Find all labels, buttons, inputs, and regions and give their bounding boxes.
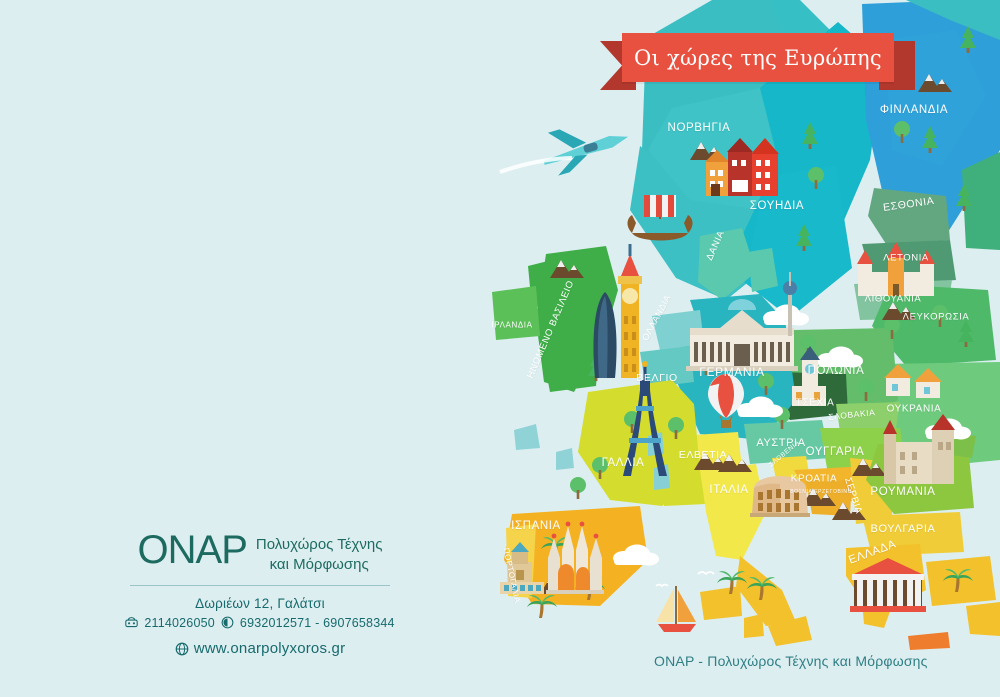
website-url[interactable]: www.onarpolyxoros.gr bbox=[194, 640, 346, 657]
logo-divider bbox=[130, 585, 390, 586]
title-banner: Οι χώρες της Ευρώπης bbox=[600, 41, 915, 90]
onar-tagline: Πολυχώρος Τέχνης και Μόρφωσης bbox=[256, 530, 383, 576]
tagline-line-1: Πολυχώρος Τέχνης bbox=[256, 535, 383, 555]
onar-wordmark: ΟΝΑΡ bbox=[138, 530, 247, 570]
globe-icon bbox=[175, 642, 188, 655]
address-text: Δωριέων 12, Γαλάτσι bbox=[120, 596, 400, 611]
phones-row: 2114026050 6932012571 - 6907658344 bbox=[120, 616, 400, 630]
banner-title: Οι χώρες της Ευρώπης bbox=[622, 33, 894, 82]
mobile-phone-icon bbox=[221, 616, 234, 629]
onar-logo-block: ΟΝΑΡ Πολυχώρος Τέχνης και Μόρφωσης Δωριέ… bbox=[120, 530, 400, 657]
mobile-numbers: 6932012571 - 6907658344 bbox=[240, 616, 395, 630]
website-row[interactable]: www.onarpolyxoros.gr bbox=[120, 640, 400, 657]
contact-info: Δωριέων 12, Γαλάτσι 2114026050 693201257… bbox=[120, 596, 400, 657]
poster-page: ΝΟΡΒΗΓΙΑΣΟΥΗΔΙΑΦΙΝΛΑΝΔΙΑΕΣΘΟΝΙΑΛΕΤΟΝΙΑΛΙ… bbox=[0, 0, 1000, 697]
logo-row: ΟΝΑΡ Πολυχώρος Τέχνης και Μόρφωσης bbox=[120, 530, 400, 576]
tagline-line-2: και Μόρφωσης bbox=[256, 555, 383, 575]
footer-credit: ΟΝΑΡ - Πολυχώρος Τέχνης και Μόρφωσης bbox=[654, 653, 928, 669]
colosseum-icon bbox=[750, 476, 810, 517]
telephone-icon bbox=[125, 616, 138, 629]
landline-number: 2114026050 bbox=[144, 616, 215, 630]
